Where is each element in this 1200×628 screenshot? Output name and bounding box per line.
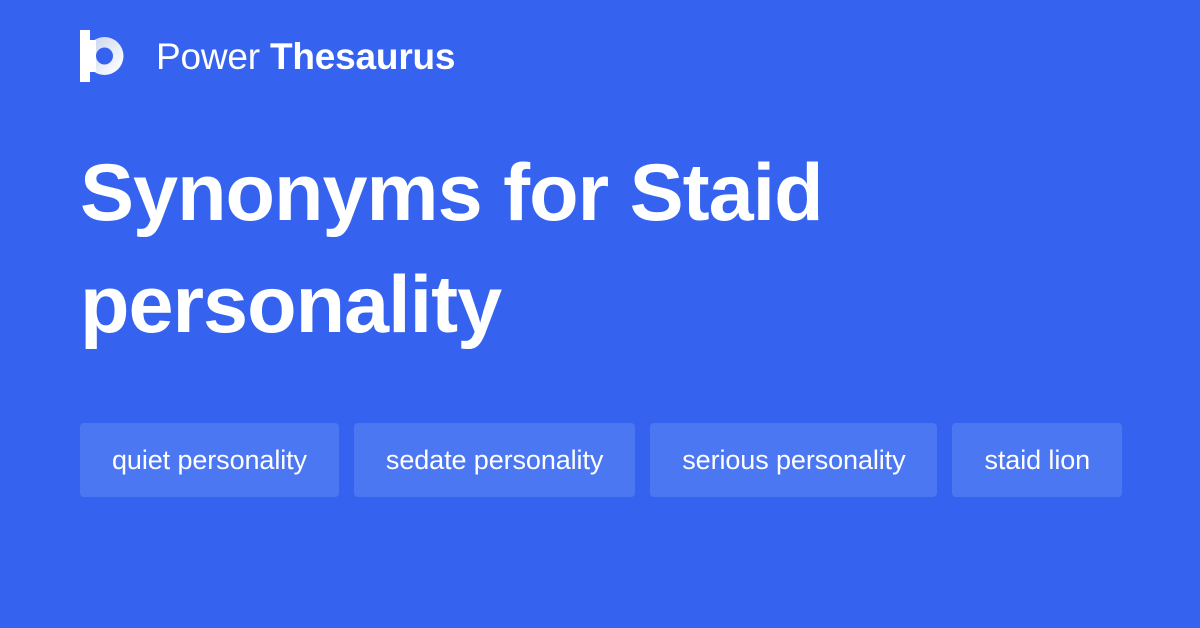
brand-name-secondary: Thesaurus bbox=[270, 36, 455, 77]
share-card: Power Thesaurus Synonyms for Staid perso… bbox=[0, 0, 1200, 628]
synonym-chip-list: quiet personality sedate personality ser… bbox=[80, 423, 1140, 497]
power-thesaurus-logo-icon bbox=[80, 30, 130, 82]
page-title-line-1: Synonyms for Staid bbox=[80, 138, 1120, 250]
brand-name: Power Thesaurus bbox=[156, 38, 455, 75]
brand-name-primary: Power bbox=[156, 36, 260, 77]
synonym-chip[interactable]: staid lion bbox=[952, 423, 1122, 497]
brand-header[interactable]: Power Thesaurus bbox=[80, 28, 455, 84]
page-title-line-2: personality bbox=[80, 250, 1120, 362]
synonym-chip[interactable]: serious personality bbox=[650, 423, 937, 497]
page-title: Synonyms for Staid personality bbox=[80, 138, 1120, 362]
synonym-chip[interactable]: quiet personality bbox=[80, 423, 339, 497]
synonym-chip[interactable]: sedate personality bbox=[354, 423, 635, 497]
